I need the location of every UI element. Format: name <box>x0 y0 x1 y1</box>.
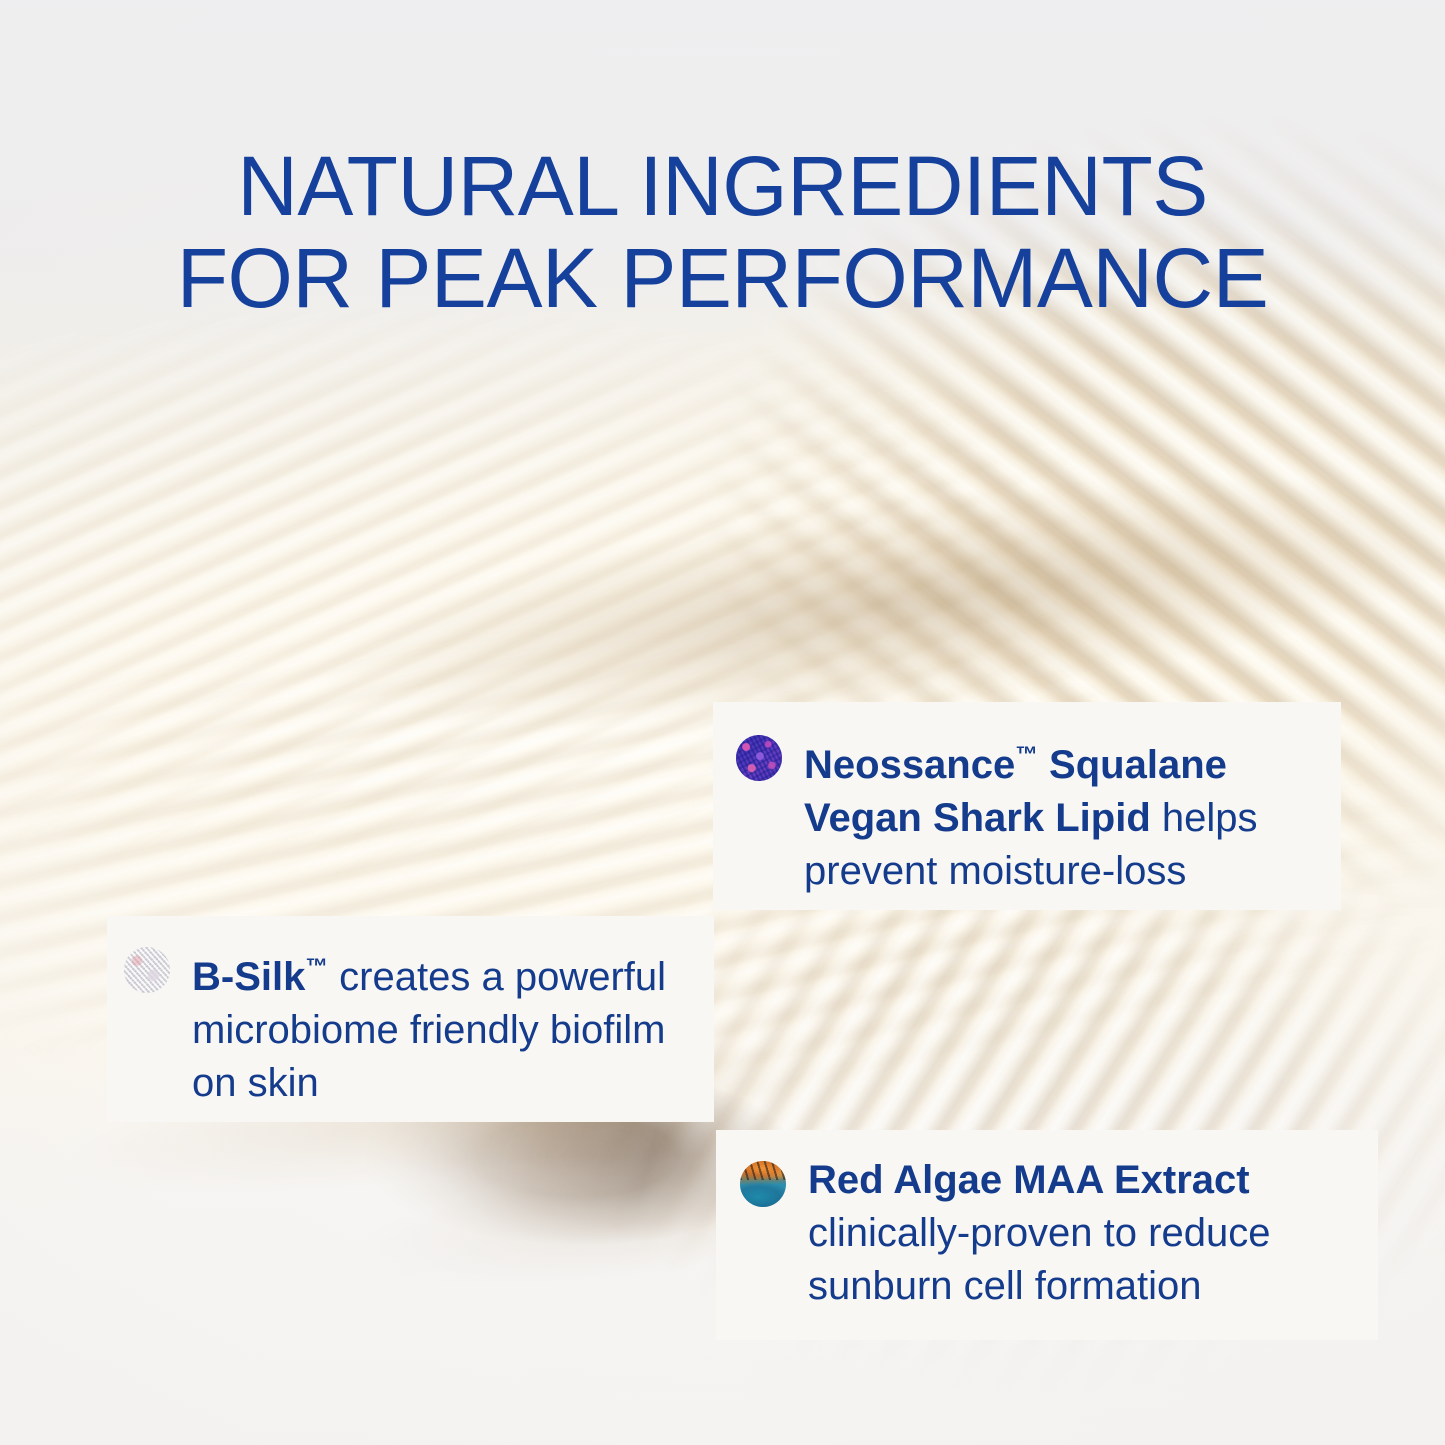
callout-text-neossance: Neossance™ Squalane Vegan Shark Lipid he… <box>804 728 1334 898</box>
ingredient-name: Red Algae MAA Extract <box>808 1158 1250 1202</box>
callout-text-bsilk: B-Silk™ creates a powerful microbiome fr… <box>192 940 702 1110</box>
callout-text-red-algae: Red Algae MAA Extract clinically-proven … <box>808 1154 1378 1313</box>
ingredient-name: Neossance <box>804 743 1015 787</box>
trademark-symbol: ™ <box>1015 742 1038 767</box>
b-silk-icon <box>124 947 170 993</box>
ingredient-benefit: clinically-proven to reduce sunburn cell… <box>808 1211 1270 1308</box>
callout-content: B-Silk™ creates a powerful microbiome fr… <box>107 916 714 1110</box>
callout-content: Red Algae MAA Extract clinically-proven … <box>716 1130 1378 1313</box>
callout-card-neossance: Neossance™ Squalane Vegan Shark Lipid he… <box>713 702 1341 910</box>
callout-card-bsilk: B-Silk™ creates a powerful microbiome fr… <box>107 916 714 1122</box>
ingredients-infographic: NATURAL INGREDIENTS FOR PEAK PERFORMANCE… <box>0 0 1445 1445</box>
ingredient-name: B-Silk <box>192 955 305 999</box>
red-algae-maa-icon <box>740 1161 786 1207</box>
page-title: NATURAL INGREDIENTS FOR PEAK PERFORMANCE <box>0 140 1445 324</box>
callout-content: Neossance™ Squalane Vegan Shark Lipid he… <box>713 702 1341 898</box>
callout-card-red-algae: Red Algae MAA Extract clinically-proven … <box>716 1130 1378 1340</box>
trademark-symbol: ™ <box>305 954 328 979</box>
neossance-squalane-icon <box>736 735 782 781</box>
